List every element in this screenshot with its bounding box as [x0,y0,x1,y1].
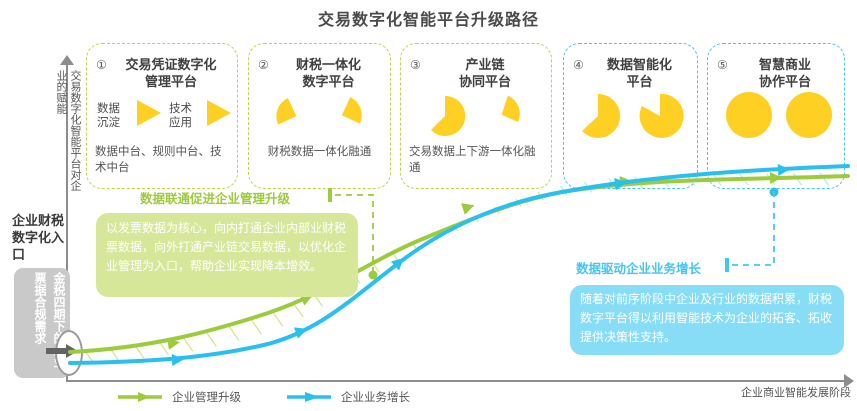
stage-number-1: ① [96,58,107,72]
stage-desc-3: 交易数据上下游一体化融通 [409,144,543,176]
y-axis-arrowhead [60,55,74,65]
pie-three-quarter-icon-a [423,94,467,138]
callout-blue-marker [725,258,729,272]
stage-number-2: ② [258,58,269,72]
legend-label-business: 企业业务增长 [341,389,410,405]
pie-three-quarter-icon-b [574,92,622,140]
stage-card-2[interactable]: ② 财税一体化数字平台 财税数据一体化融通 [248,43,391,189]
pie-quarter-icon-c [493,94,537,138]
stage-title-4: 数据智能化平台 [588,56,691,90]
stage-icons-2 [249,96,390,140]
pie-quarter-icon-a [269,96,305,134]
origin-arrow-icon [46,344,86,358]
callout-blue-body: 随着对前序阶段中企业及行业的数据积累，财税数字平台得以利用智能技术为企业的拓客、… [580,290,836,347]
pie-quarter-icon-b [333,96,369,134]
entry-point-label: 企业财税数字化入口 [12,212,68,263]
callout-blue-heading: 数据驱动企业业务增长 [576,258,701,277]
x-axis-line [66,380,846,382]
legend: 企业管理升级 企业业务增长 [118,388,410,406]
stage-title-1: 交易凭证数字化管理平台 [111,56,231,90]
stage-title-5: 智慧商业协作平台 [732,56,838,90]
page-title: 交易数字化智能平台升级路径 [0,6,857,30]
sublabel-data-settle: 数据沉淀 [97,102,120,130]
stage-number-4: ④ [573,58,584,72]
stage-icons-5 [708,96,844,140]
wedge-triangle-icon-a [135,98,163,128]
infographic-root: 交易数字化智能平台升级路径 交易数字化智能平台对企业的赋能 企业商业智能发展阶段… [0,0,857,411]
pie-three-quarter-icon-c [636,92,684,140]
sublabel-tech-apply: 技术应用 [169,102,192,130]
stage-title-2: 财税一体化数字平台 [273,56,384,90]
legend-item-management[interactable]: 企业管理升级 [118,389,241,405]
legend-label-management: 企业管理升级 [172,389,241,405]
wedge-triangle-icon-b [205,98,233,128]
stage-number-5: ⑤ [717,58,728,72]
callout-green-heading: 数据联通促进企业管理升级 [140,188,290,207]
stage-card-3[interactable]: ③ 产业链协同平台 交易数据上下游一体化融通 [400,43,552,189]
stage-card-1[interactable]: ① 交易凭证数字化管理平台 数据沉淀 技术应用 数据中台、规则中台、技术中台 [86,43,238,189]
stage-desc-1: 数据中台、规则中台、技术中台 [95,144,229,176]
y-axis-label: 交易数字化智能平台对企业的赋能 [48,70,82,200]
green-data-point [369,271,378,280]
stage-icons-1: 数据沉淀 技术应用 [87,96,237,140]
x-axis-label: 企业商业智能发展阶段 [741,384,851,400]
stage-card-5[interactable]: ⑤ 智慧商业协作平台 [707,43,845,189]
stage-number-3: ③ [410,58,421,72]
stage-desc-2: 财税数据一体化融通 [257,144,382,160]
stage-card-4[interactable]: ④ 数据智能化平台 [563,43,698,189]
stage-icons-4 [564,96,697,140]
legend-swatch-green-icon [118,392,164,402]
stage-icons-3 [401,96,551,140]
circle-full-icon-b [786,92,832,138]
legend-swatch-blue-icon [287,392,333,402]
legend-item-business[interactable]: 企业业务增长 [287,389,410,405]
circle-full-icon-a [726,92,772,138]
callout-green-marker [328,188,332,202]
stage-title-3: 产业链协同平台 [425,56,545,90]
callout-green-body: 以发票数据为核心，向内打通企业内部业财税票数据，向外打通产业链交易数据，以优化企… [106,219,350,276]
